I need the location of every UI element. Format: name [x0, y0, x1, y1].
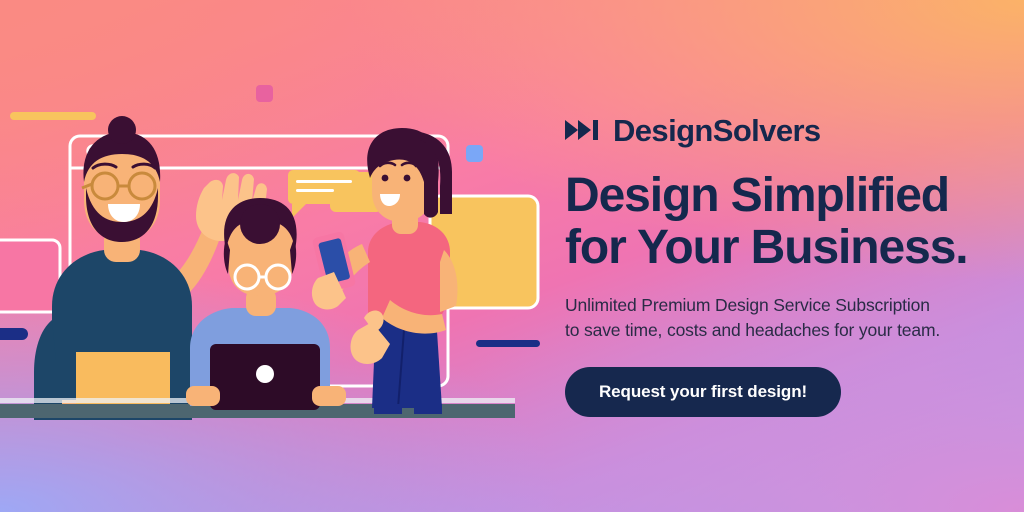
navy-bar-left — [0, 328, 28, 340]
subheadline-line-1: Unlimited Premium Design Service Subscri… — [565, 295, 930, 315]
laptop — [210, 344, 320, 410]
hero-illustration — [0, 0, 560, 512]
pink-square-decor — [256, 85, 273, 102]
navy-bar-right — [476, 340, 540, 347]
request-first-design-button[interactable]: Request your first design! — [565, 367, 841, 417]
subheadline-line-2: to save time, costs and headaches for yo… — [565, 320, 940, 340]
laptop-logo — [256, 365, 274, 383]
pink-card — [0, 240, 60, 312]
skip-forward-icon — [565, 118, 599, 142]
brand-logo[interactable]: DesignSolvers — [565, 112, 1005, 148]
yellow-bar — [10, 112, 96, 120]
marketing-banner: DesignSolvers Design Simplified for Your… — [0, 0, 1024, 512]
page-title: Design Simplified for Your Business. — [565, 170, 1005, 275]
subheadline: Unlimited Premium Design Service Subscri… — [565, 293, 1005, 344]
headline-line-2: for Your Business. — [565, 221, 968, 274]
blue-square-decor — [466, 145, 483, 162]
hero-content: DesignSolvers Design Simplified for Your… — [565, 112, 1005, 417]
headline-line-1: Design Simplified — [565, 169, 949, 222]
brand-name: DesignSolvers — [613, 115, 821, 146]
